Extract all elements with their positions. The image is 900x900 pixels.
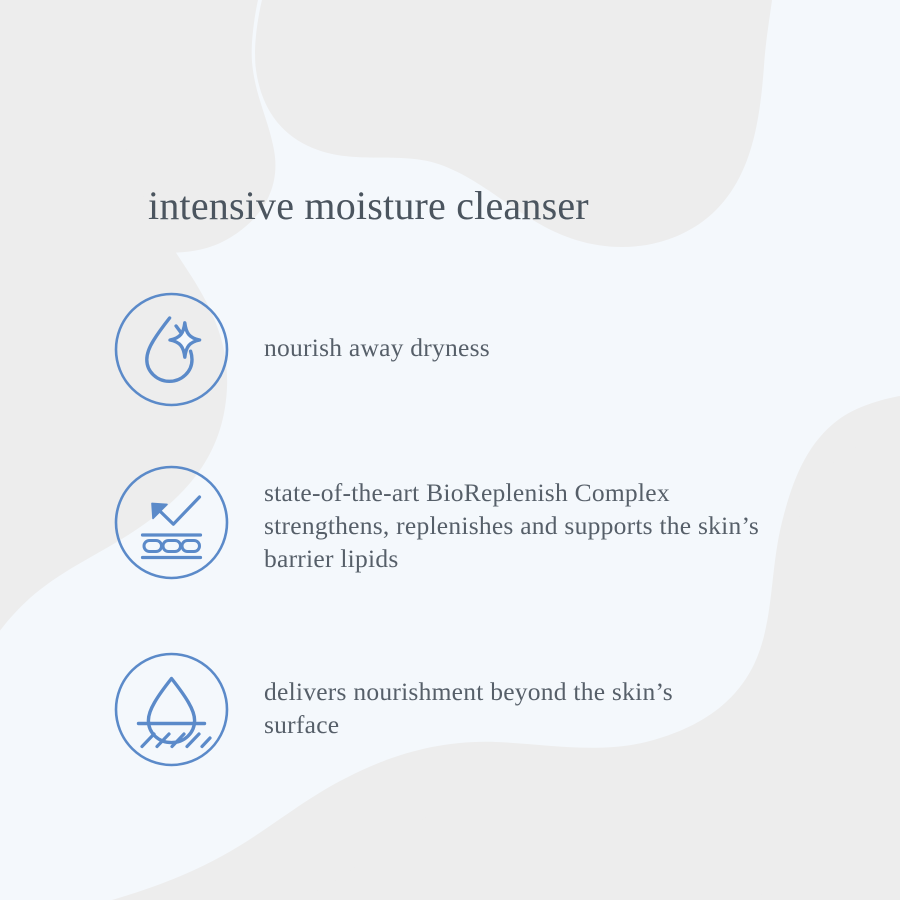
- sparkle-shape: [170, 323, 200, 357]
- absorption-dash: [202, 738, 210, 747]
- blob-bottom-edge: [756, 700, 900, 900]
- lipid-capsule: [163, 541, 181, 552]
- arrow-path: [156, 497, 200, 524]
- lipid-capsule: [182, 541, 200, 552]
- icon-ring: [116, 654, 227, 765]
- benefit-text: delivers nourishment beyond the skin’s s…: [264, 651, 724, 741]
- product-benefits-infographic: intensive moisture cleanser nourish away…: [0, 0, 900, 900]
- benefit-text: state-of-the-art BioReplenish Complex st…: [264, 464, 794, 575]
- page-title: intensive moisture cleanser: [148, 181, 589, 231]
- lipid-capsule: [144, 541, 162, 552]
- benefit-item: delivers nourishment beyond the skin’s s…: [113, 651, 724, 768]
- droplet-absorption-icon: [113, 651, 230, 768]
- skin-barrier-layers-icon: [113, 464, 230, 581]
- droplet-shape: [148, 679, 194, 743]
- benefit-text: nourish away dryness: [264, 291, 490, 364]
- absorption-dash: [142, 734, 154, 747]
- droplet-sparkle-icon: [113, 291, 230, 408]
- benefit-item: nourish away dryness: [113, 291, 490, 408]
- icon-ring: [116, 294, 227, 405]
- benefit-item: state-of-the-art BioReplenish Complex st…: [113, 464, 794, 581]
